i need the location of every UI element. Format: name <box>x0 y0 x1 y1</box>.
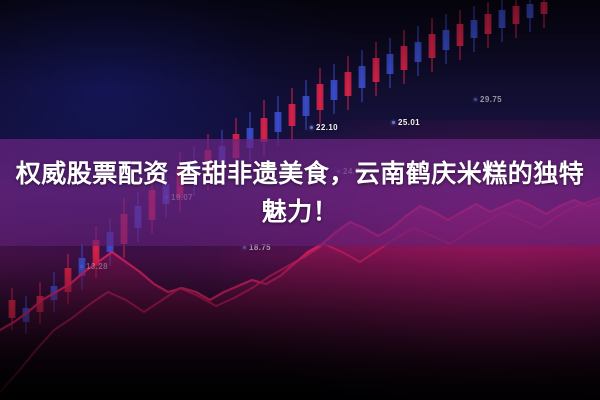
price-label-value: 13.28 <box>86 262 108 271</box>
candle-body <box>471 20 478 38</box>
banner-image: 13.2819.0718.7522.1024.7825.0129.75 权威股票… <box>0 0 600 400</box>
candle-body <box>289 104 296 126</box>
headline-text-group: 权威股票配资 香甜非遗美食，云南鹤庆米糕的独特 魅力！ <box>0 139 600 246</box>
price-label: 29.75 <box>474 95 502 104</box>
candle-body <box>443 30 450 50</box>
headline-line-1: 权威股票配资 香甜非遗美食，云南鹤庆米糕的独特 <box>16 155 584 193</box>
headline-line-2: 魅力！ <box>262 193 339 231</box>
candle-body <box>275 112 282 132</box>
candle-body <box>485 14 492 34</box>
price-label-value: 25.01 <box>398 118 420 127</box>
candle-body <box>429 34 436 58</box>
price-label: 22.10 <box>310 123 338 132</box>
price-label: 25.01 <box>392 118 420 127</box>
price-marker-dot <box>310 126 313 129</box>
candle-body <box>65 268 72 292</box>
candle-body <box>401 46 408 70</box>
candle-body <box>541 2 548 14</box>
candle-body <box>303 96 310 116</box>
candle-body <box>527 4 534 18</box>
candle-body <box>387 54 394 74</box>
price-label: 13.28 <box>80 262 108 271</box>
candle-body <box>37 296 44 312</box>
candle-body <box>9 300 16 318</box>
candle-body <box>345 72 352 96</box>
candle-body <box>331 80 338 100</box>
price-marker-dot <box>243 246 246 249</box>
candle-body <box>317 84 324 110</box>
candle-body <box>457 24 464 46</box>
price-marker-dot <box>392 121 395 124</box>
candle-body <box>415 42 422 62</box>
candle-body <box>499 10 506 28</box>
price-label-value: 22.10 <box>316 123 338 132</box>
candle-body <box>513 6 520 24</box>
candle-body <box>23 308 30 322</box>
candle-body <box>373 58 380 82</box>
price-marker-dot <box>80 265 83 268</box>
candle-body <box>51 286 58 300</box>
candle-body <box>359 66 366 88</box>
price-marker-dot <box>474 98 477 101</box>
price-label-value: 29.75 <box>480 95 502 104</box>
